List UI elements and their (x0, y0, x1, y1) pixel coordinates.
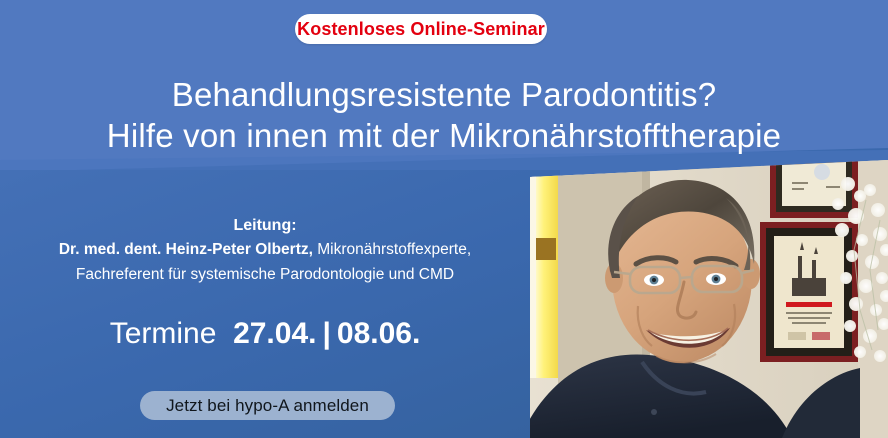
presenter-lead-label: Leitung: (0, 214, 530, 237)
presenter-name-row: Dr. med. dent. Heinz-Peter Olbertz, Mikr… (0, 237, 530, 262)
date-separator: | (316, 317, 336, 350)
dates-label: Termine (110, 317, 217, 350)
presenter-title-suffix: Mikronährstoffexperte, (313, 241, 471, 258)
presenter-photo (530, 160, 888, 438)
webinar-banner: Kostenloses Online-Seminar Behandlungsre… (0, 0, 888, 438)
headline-line-1: Behandlungsresistente Parodontitis? (172, 76, 717, 113)
badge-label: Kostenloses Online-Seminar (297, 19, 545, 40)
presenter-role: Fachreferent für systemische Parodontolo… (0, 262, 530, 287)
date-1: 27.04. (233, 317, 316, 350)
date-2: 08.06. (337, 317, 420, 350)
dates-row: Termine 27.04.|08.06. (0, 314, 530, 354)
register-button[interactable]: Jetzt bei hypo-A anmelden (140, 391, 395, 420)
presenter-info: Leitung: Dr. med. dent. Heinz-Peter Olbe… (0, 214, 530, 287)
headline-line-2: Hilfe von innen mit der Mikronährstoffth… (0, 115, 888, 156)
page-title: Behandlungsresistente Parodontitis? Hilf… (0, 74, 888, 156)
presenter-name: Dr. med. dent. Heinz-Peter Olbertz, (59, 241, 313, 258)
status-badge: Kostenloses Online-Seminar (295, 14, 547, 44)
